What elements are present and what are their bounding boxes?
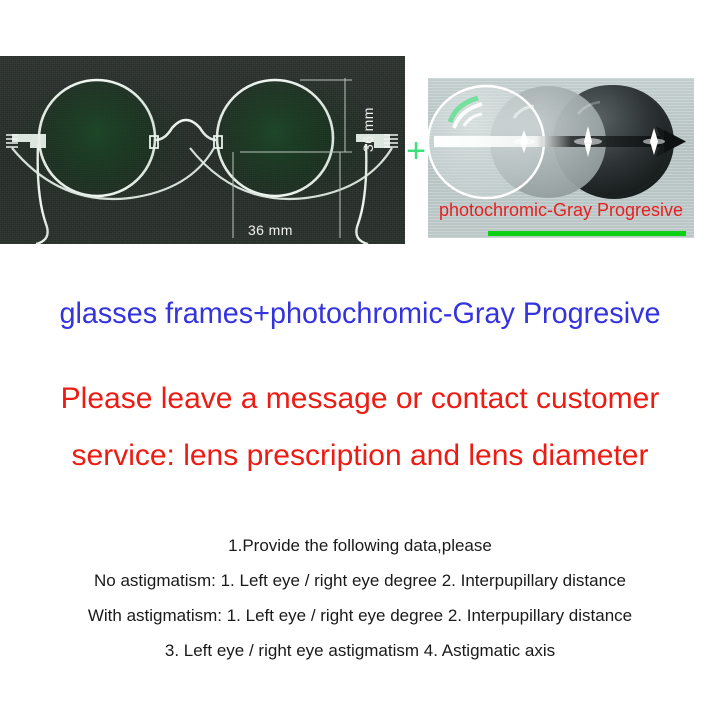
instruction-line-3: With astigmatism: 1. Left eye / right ey… [0,598,720,633]
plus-separator-icon: + [402,136,430,166]
notice-line-2: service: lens prescription and lens diam… [0,427,720,484]
glasses-frame-photo: 36 mm 36 mm [0,56,405,244]
prescription-instructions: 1.Provide the following data,please No a… [0,528,720,668]
instruction-line-4: 3. Left eye / right eye astigmatism 4. A… [0,633,720,668]
glasses-frame-drawing [0,56,405,244]
page-title: glasses frames+photochromic-Gray Progres… [14,296,705,332]
photochromic-lens-panel: photochromic-Gray Progresive [428,78,694,238]
notice-line-1: Please leave a message or contact custom… [0,370,720,427]
dimension-label-horizontal: 36 mm [248,222,293,238]
lens-caption-underline [488,231,686,236]
lens-caption: photochromic-Gray Progresive [428,200,694,221]
customer-notice: Please leave a message or contact custom… [0,370,720,484]
dimension-label-vertical: 36 mm [360,107,376,152]
instruction-line-1: 1.Provide the following data,please [0,528,720,563]
instruction-line-2: No astigmatism: 1. Left eye / right eye … [0,563,720,598]
product-image-strip: 36 mm 36 mm + [0,0,720,268]
